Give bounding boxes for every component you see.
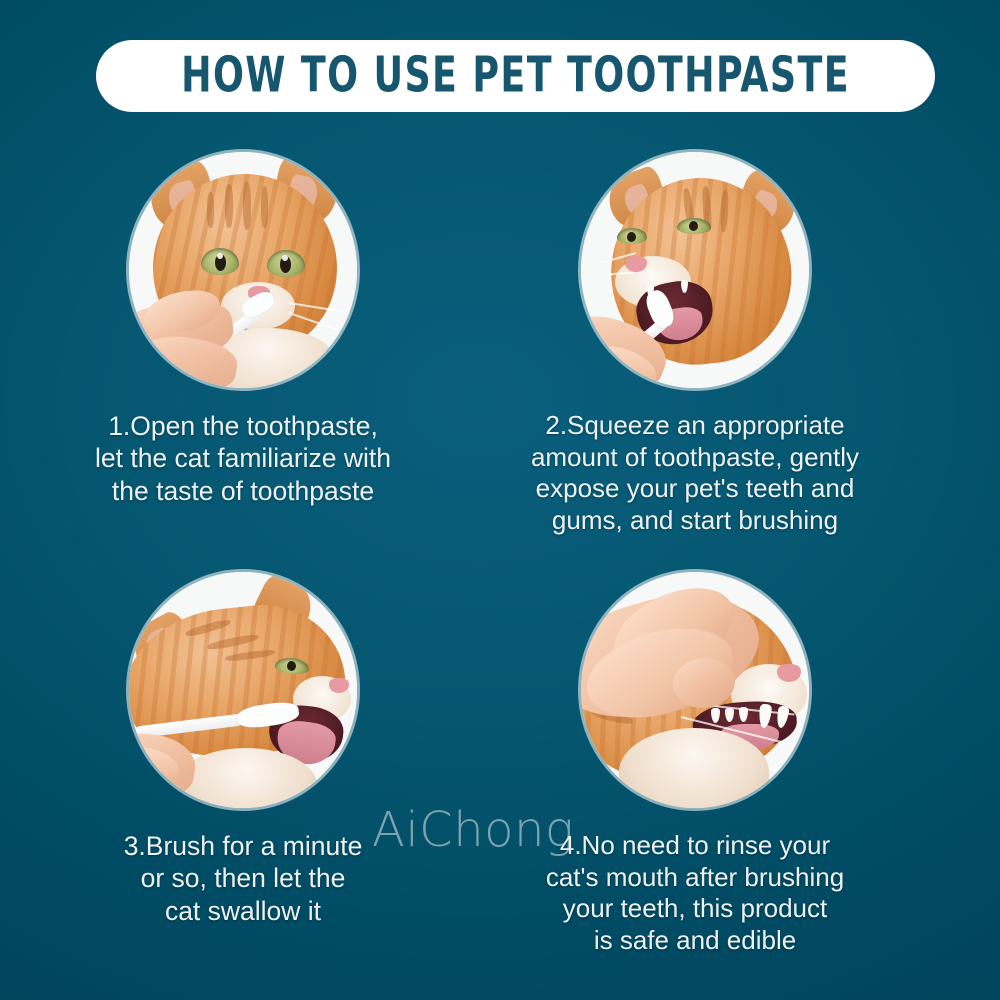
step-1-caption: 1.Open the toothpaste, let the cat famil… [33, 410, 453, 507]
cat-chest [619, 728, 769, 808]
page-title: HOW TO USE PET TOOTHPASTE [181, 51, 850, 100]
caption-line: is safe and edible [485, 925, 905, 957]
caption-line: cat swallow it [33, 895, 453, 927]
cat-pupil [287, 661, 296, 671]
fur-stripe [243, 182, 251, 230]
caption-line: your teeth, this product [485, 893, 905, 925]
fur-stripe [207, 192, 214, 228]
step-4-photo [581, 572, 809, 808]
infographic-poster: HOW TO USE PET TOOTHPASTE [0, 0, 1000, 1000]
caption-line: or so, then let the [33, 862, 453, 894]
caption-line: cat's mouth after brushing [485, 862, 905, 894]
eye-glint [282, 255, 288, 261]
step-4-photo-scene [581, 572, 809, 808]
step-3: 3.Brush for a minute or so, then let the… [33, 572, 453, 927]
caption-line: 2.Squeeze an appropriate [485, 410, 905, 442]
cat-pupil-left [627, 232, 636, 242]
step-2-caption: 2.Squeeze an appropriate amount of tooth… [485, 410, 905, 537]
step-2-photo-scene [581, 152, 809, 388]
eye-glint [217, 253, 223, 259]
caption-line: 4.No need to rinse your [485, 830, 905, 862]
fur-stripe [225, 184, 233, 228]
step-2: 2.Squeeze an appropriate amount of tooth… [485, 152, 905, 537]
step-1: 1.Open the toothpaste, let the cat famil… [33, 152, 453, 507]
caption-line: the taste of toothpaste [33, 475, 453, 507]
title-banner: HOW TO USE PET TOOTHPASTE [96, 40, 935, 112]
step-3-photo-scene [129, 572, 357, 808]
step-2-photo [581, 152, 809, 388]
caption-line: amount of toothpaste, gently [485, 442, 905, 474]
step-3-caption: 3.Brush for a minute or so, then let the… [33, 830, 453, 927]
caption-line: expose your pet's teeth and [485, 473, 905, 505]
caption-line: let the cat familiarize with [33, 442, 453, 474]
cat-pupil-right [689, 221, 698, 231]
caption-line: 3.Brush for a minute [33, 830, 453, 862]
step-3-photo [129, 572, 357, 808]
fur-stripe [261, 186, 268, 228]
step-1-photo-scene [129, 152, 357, 388]
step-4-caption: 4.No need to rinse your cat's mouth afte… [485, 830, 905, 957]
step-1-photo [129, 152, 357, 388]
caption-line: 1.Open the toothpaste, [33, 410, 453, 442]
caption-line: gums, and start brushing [485, 505, 905, 537]
step-4: 4.No need to rinse your cat's mouth afte… [485, 572, 905, 957]
